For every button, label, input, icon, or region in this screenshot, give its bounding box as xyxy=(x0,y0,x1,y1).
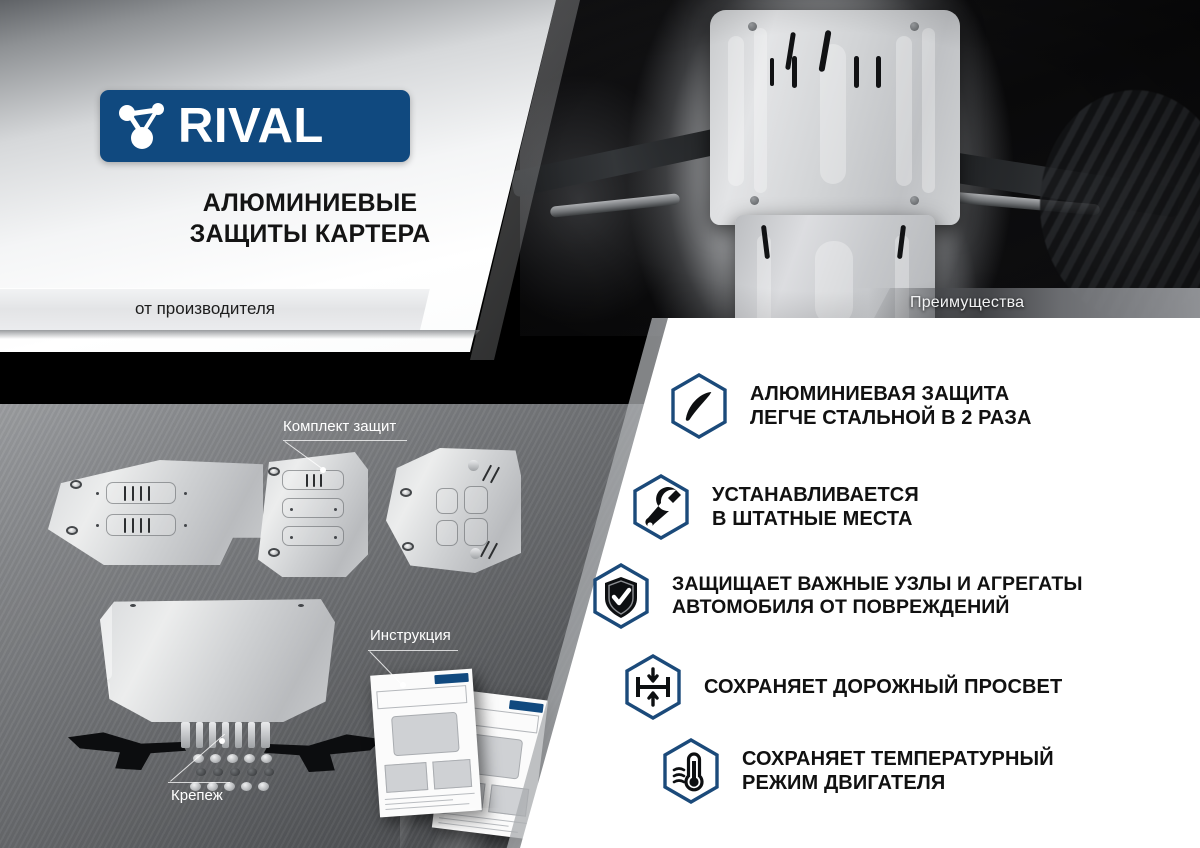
thermometer-icon xyxy=(660,737,722,805)
feature-text: СОХРАНЯЕТ ТЕМПЕРАТУРНЫЙ РЕЖИМ ДВИГАТЕЛЯ xyxy=(742,747,1054,795)
advantages-label: Преимущества xyxy=(910,294,1024,312)
feature-item-fitment: УСТАНАВЛИВАЕТСЯ В ШТАТНЫЕ МЕСТА xyxy=(630,473,919,541)
instruction-label: Инструкция xyxy=(370,627,451,644)
feather-icon xyxy=(668,372,730,440)
subtitle-text: от производителя xyxy=(135,299,275,319)
skid-plate-right xyxy=(386,448,521,573)
skid-plate-left xyxy=(48,460,263,565)
kit-label: Комплект защит xyxy=(283,418,396,435)
infographic-poster: Преимущества xyxy=(0,0,1200,848)
fasteners-leader-dot xyxy=(219,738,225,744)
instruction-leader-dot xyxy=(400,682,406,688)
feature-text: СОХРАНЯЕТ ДОРОЖНЫЙ ПРОСВЕТ xyxy=(704,675,1062,699)
shield-check-icon xyxy=(590,562,652,630)
feature-text: ЗАЩИЩАЕТ ВАЖНЫЕ УЗЛЫ И АГРЕГАТЫ АВТОМОБИ… xyxy=(672,573,1083,620)
fasteners-label: Крепеж xyxy=(171,787,223,804)
feature-item-temperature: СОХРАНЯЕТ ТЕМПЕРАТУРНЫЙ РЕЖИМ ДВИГАТЕЛЯ xyxy=(660,737,1054,805)
skid-plate-middle xyxy=(258,452,368,577)
clearance-icon xyxy=(622,653,684,721)
feature-text: УСТАНАВЛИВАЕТСЯ В ШТАТНЫЕ МЕСТА xyxy=(712,483,919,531)
advantages-banner: Преимущества xyxy=(868,288,1200,318)
subtitle-strip: от производителя xyxy=(0,288,430,330)
mounting-bracket-right xyxy=(264,732,382,772)
wrench-icon xyxy=(630,473,692,541)
kit-leader-dot xyxy=(320,467,326,473)
skid-plate-front xyxy=(100,594,335,722)
feature-item-protection: ЗАЩИЩАЕТ ВАЖНЫЕ УЗЛЫ И АГРЕГАТЫ АВТОМОБИ… xyxy=(590,562,1083,630)
feature-text: АЛЮМИНИЕВАЯ ЗАЩИТА ЛЕГЧЕ СТАЛЬНОЙ В 2 РА… xyxy=(750,382,1032,430)
strip-shadow xyxy=(0,330,480,339)
vehicle-underside-photo: Преимущества xyxy=(520,0,1200,360)
molecule-icon xyxy=(112,98,174,154)
feature-item-clearance: СОХРАНЯЕТ ДОРОЖНЫЙ ПРОСВЕТ xyxy=(622,653,1062,721)
instruction-sheet-front xyxy=(370,669,482,818)
feature-item-lightweight: АЛЮМИНИЕВАЯ ЗАЩИТА ЛЕГЧЕ СТАЛЬНОЙ В 2 РА… xyxy=(668,372,1032,440)
brand-name: RIVAL xyxy=(178,102,324,151)
mounting-bracket-left xyxy=(68,730,186,770)
page-title: АЛЮМИНИЕВЫЕ ЗАЩИТЫ КАРТЕРА xyxy=(100,188,520,249)
brand-logo: RIVAL xyxy=(100,90,410,162)
